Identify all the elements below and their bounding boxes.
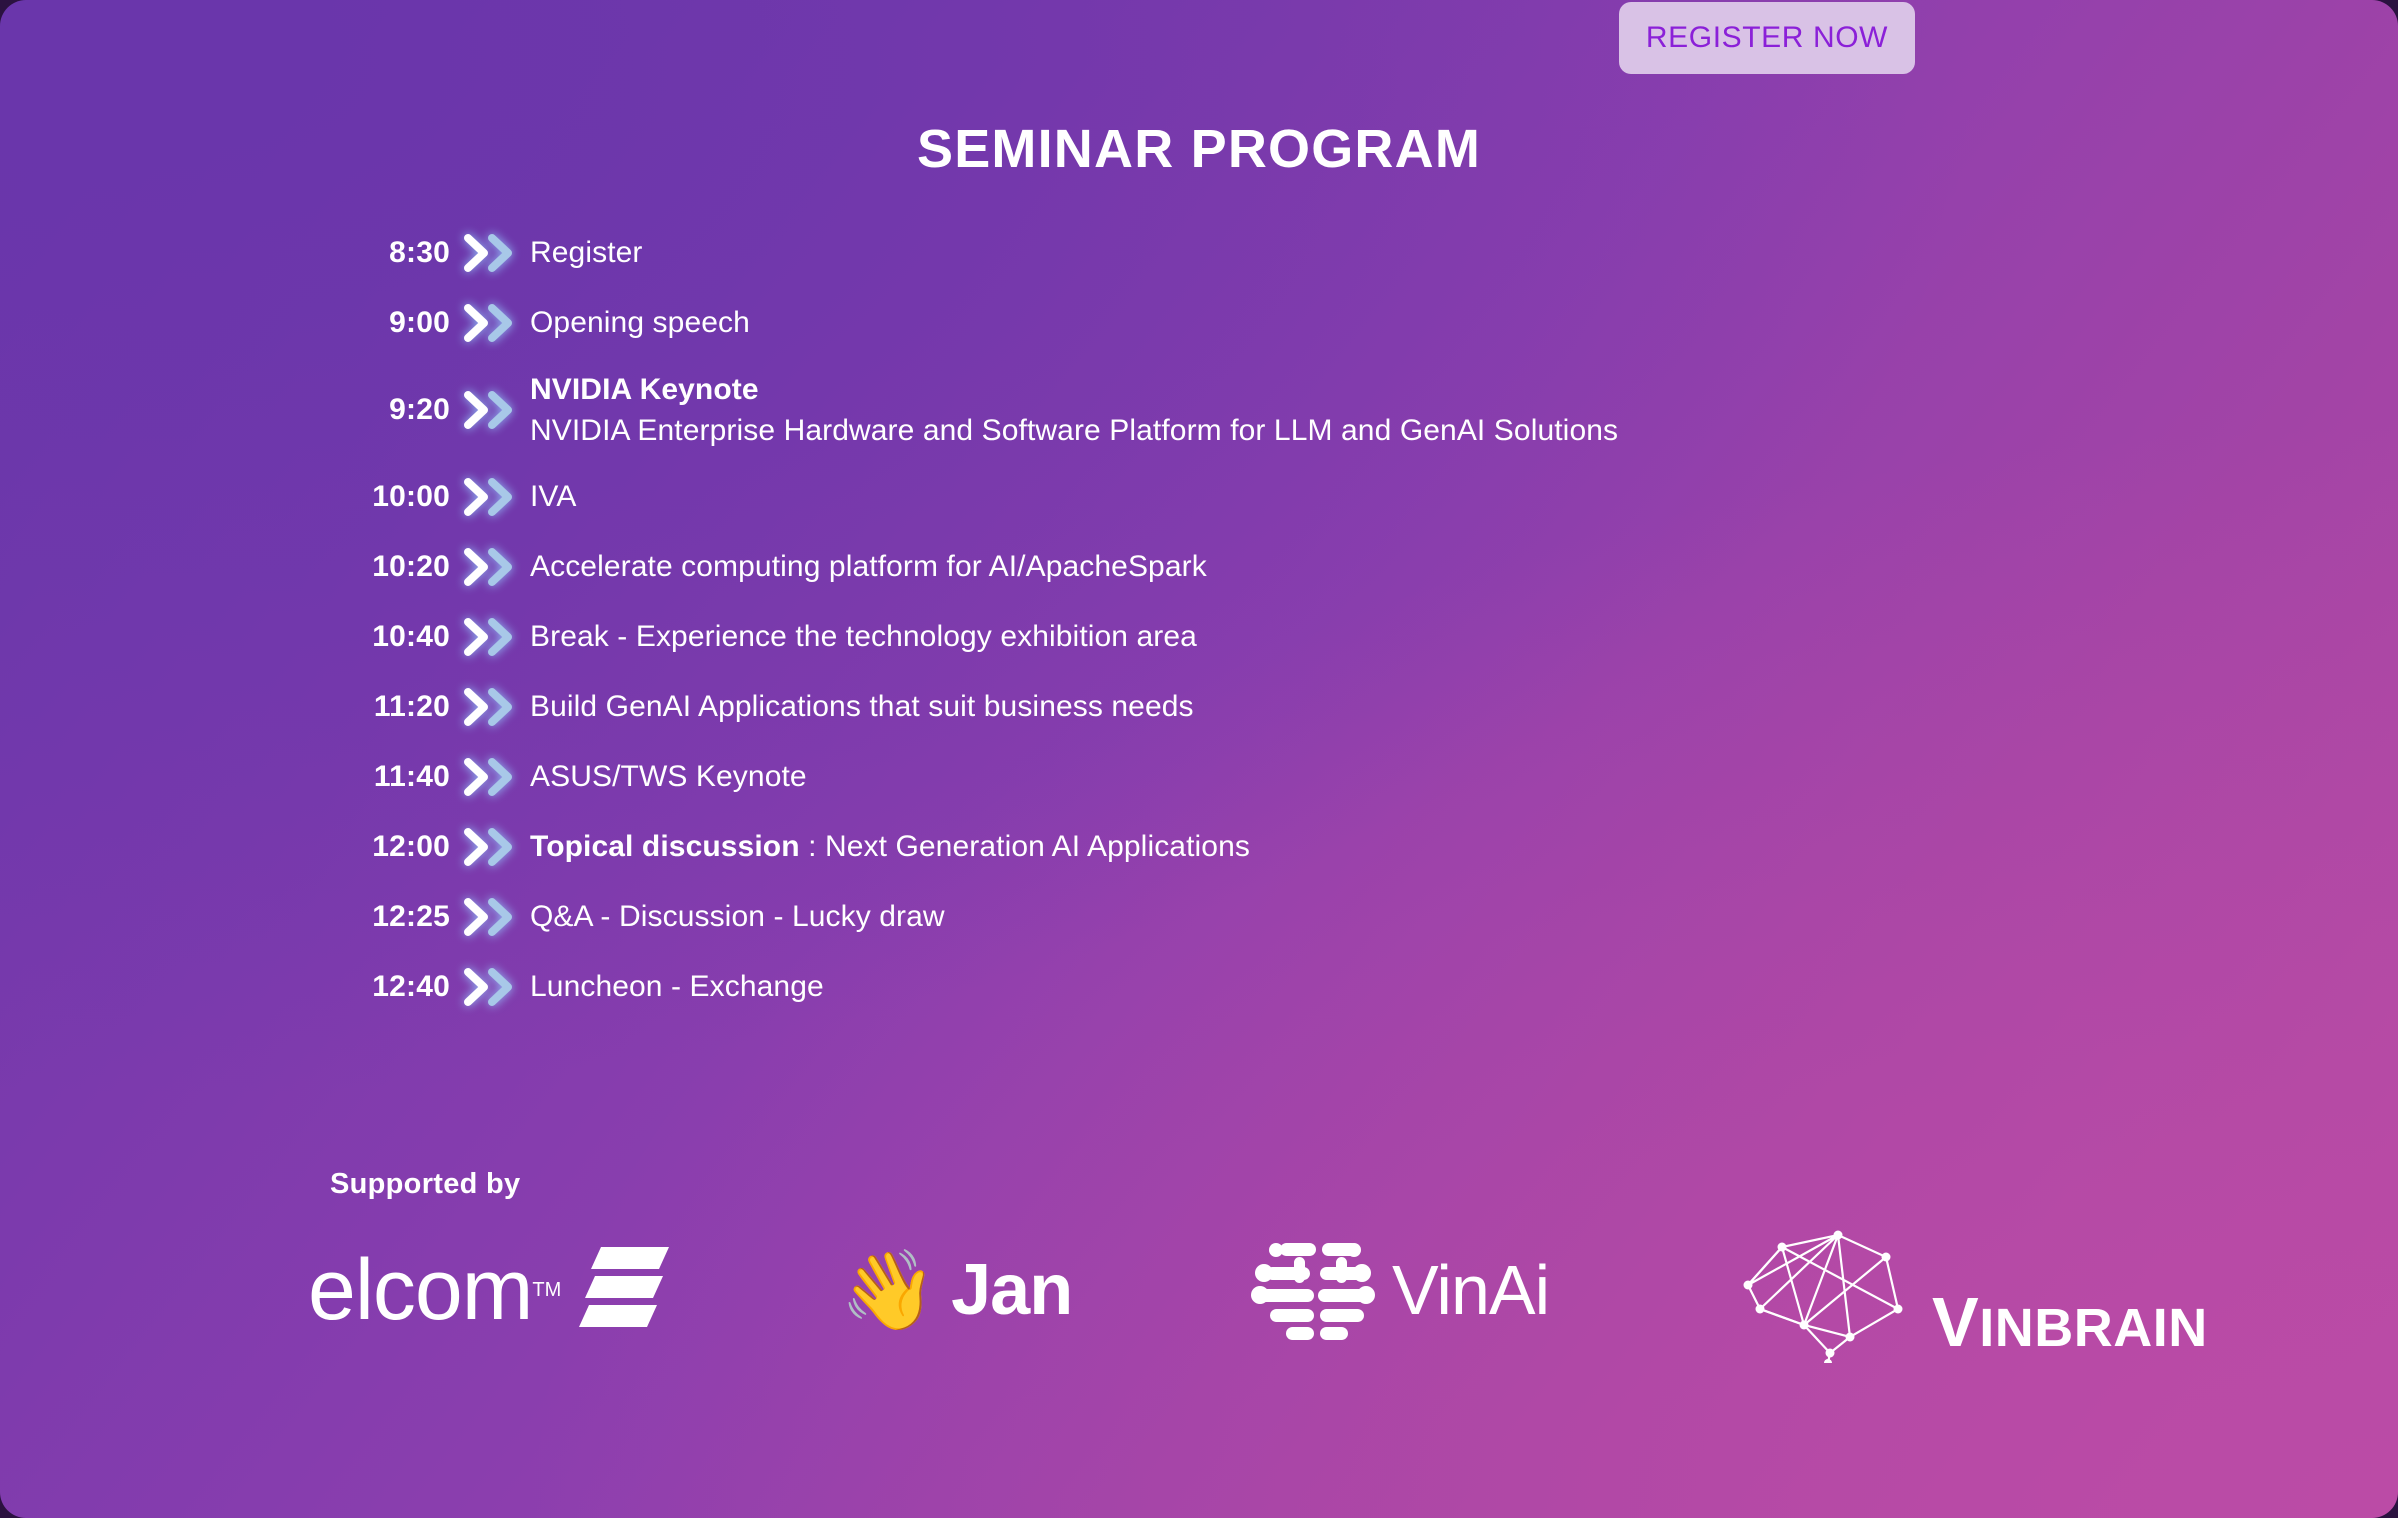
schedule-row: 10:40 Break - Experience the technology … [330, 602, 2030, 672]
schedule-item-detail: : Next Generation AI Applications [800, 830, 1250, 863]
schedule-time: 9:00 [330, 306, 450, 340]
sponsor-logo-jan[interactable]: 👋 Jan [840, 1215, 1072, 1365]
double-chevron-right-icon [450, 897, 530, 937]
schedule-row: 8:30 Register [330, 218, 2030, 288]
vinbrain-wordmark-rest: INBRAIN [1979, 1298, 2208, 1358]
schedule-text: Q&A - Discussion - Lucky draw [530, 896, 2030, 937]
vinbrain-brain-network-icon [1730, 1213, 1950, 1368]
schedule-row: 11:40 ASUS/TWS Keynote [330, 742, 2030, 812]
schedule-time: 12:00 [330, 830, 450, 864]
schedule-row: 10:20 Accelerate computing platform for … [330, 532, 2030, 602]
vinbrain-wordmark: VINBRAIN [1932, 1287, 2208, 1357]
double-chevron-right-icon [450, 827, 530, 867]
elcom-wordmark: elcom [308, 1247, 532, 1333]
schedule-text: ASUS/TWS Keynote [530, 756, 2030, 797]
schedule-time: 10:20 [330, 550, 450, 584]
schedule-row: 9:20 NVIDIA KeynoteNVIDIA Enterprise Har… [330, 358, 2030, 462]
sponsor-logo-elcom[interactable]: elcom TM [308, 1215, 671, 1365]
schedule-time: 12:40 [330, 970, 450, 1004]
double-chevron-right-icon [450, 390, 530, 430]
elcom-e-mark-icon [575, 1245, 671, 1336]
schedule-time: 10:00 [330, 480, 450, 514]
schedule-row: 12:25 Q&A - Discussion - Lucky draw [330, 882, 2030, 952]
register-now-button[interactable]: REGISTER NOW [1619, 2, 1915, 74]
waving-hand-emoji: 👋 [840, 1251, 937, 1329]
schedule-text: Topical discussion : Next Generation AI … [530, 826, 2030, 867]
double-chevron-right-icon [450, 233, 530, 273]
sponsor-logo-vinbrain[interactable]: VINBRAIN [1730, 1215, 2208, 1365]
elcom-trademark: TM [532, 1279, 561, 1302]
schedule-row: 12:40 Luncheon - Exchange [330, 952, 2030, 1022]
schedule-time: 11:20 [330, 690, 450, 724]
seminar-program-slide: REGISTER NOW SEMINAR PROGRAM 8:30 Regist… [0, 0, 2398, 1518]
double-chevron-right-icon [450, 757, 530, 797]
schedule-time: 11:40 [330, 760, 450, 794]
vinai-wordmark: VinAi [1392, 1255, 1549, 1325]
jan-wordmark: Jan [951, 1254, 1072, 1326]
sponsor-logo-strip: elcom TM 👋 Jan [300, 1215, 2300, 1365]
schedule-time: 8:30 [330, 236, 450, 270]
page-title: SEMINAR PROGRAM [0, 118, 2398, 180]
schedule-time: 10:40 [330, 620, 450, 654]
schedule-item-title: Topical discussion [530, 830, 800, 863]
schedule-time: 9:20 [330, 393, 450, 427]
schedule-text: Register [530, 232, 2030, 273]
double-chevron-right-icon [450, 547, 530, 587]
double-chevron-right-icon [450, 687, 530, 727]
supported-by-label: Supported by [330, 1168, 521, 1201]
schedule-time: 12:25 [330, 900, 450, 934]
sponsor-logo-vinai[interactable]: VinAi [1250, 1215, 1549, 1365]
schedule-row: 10:00 IVA [330, 462, 2030, 532]
schedule-text: IVA [530, 476, 2030, 517]
double-chevron-right-icon [450, 303, 530, 343]
schedule-text: Break - Experience the technology exhibi… [530, 616, 2030, 657]
double-chevron-right-icon [450, 967, 530, 1007]
schedule-row: 12:00 Topical discussion : Next Generati… [330, 812, 2030, 882]
schedule-text: Accelerate computing platform for AI/Apa… [530, 546, 2030, 587]
schedule-row: 11:20 Build GenAI Applications that suit… [330, 672, 2030, 742]
schedule-text: Opening speech [530, 302, 2030, 343]
double-chevron-right-icon [450, 477, 530, 517]
schedule-text: Luncheon - Exchange [530, 966, 2030, 1007]
schedule-text: Build GenAI Applications that suit busin… [530, 686, 2030, 727]
double-chevron-right-icon [450, 617, 530, 657]
vinbrain-wordmark-cap: V [1932, 1283, 1979, 1361]
schedule-row: 9:00 Opening speech [330, 288, 2030, 358]
schedule-item-title: NVIDIA Keynote [530, 369, 2030, 410]
schedule-item-subtitle: NVIDIA Enterprise Hardware and Software … [530, 410, 2030, 451]
vinai-neural-mark-icon [1250, 1229, 1376, 1352]
schedule-text: NVIDIA KeynoteNVIDIA Enterprise Hardware… [530, 369, 2030, 452]
schedule-list: 8:30 Register9:00 Opening speech9:20 NVI… [330, 218, 2030, 1022]
